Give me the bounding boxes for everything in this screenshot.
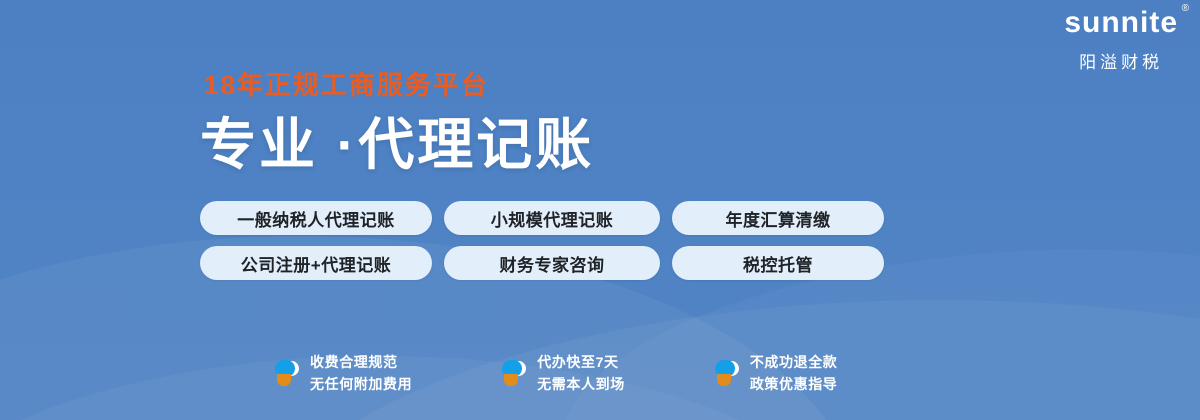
feature-line1: 不成功退全款 xyxy=(750,354,838,370)
promo-banner: sunnite ® 阳溢财税 18年正规工商服务平台 专业 ·代理记账 一般纳税… xyxy=(0,0,1200,420)
feature-text-guarantee: 不成功退全款 政策优惠指导 xyxy=(750,352,838,395)
service-pill-expert-consulting[interactable]: 财务专家咨询 xyxy=(444,246,660,280)
feature-item-pricing: 收费合理规范 无任何附加费用 xyxy=(275,352,412,395)
page-title: 专业 ·代理记账 xyxy=(200,114,594,177)
service-pill-annual-settlement[interactable]: 年度汇算清缴 xyxy=(672,201,884,235)
feature-text-pricing: 收费合理规范 无任何附加费用 xyxy=(310,352,412,395)
logo-wordmark-text: sunnite xyxy=(1064,6,1178,39)
service-pill-company-registration[interactable]: 公司注册+代理记账 xyxy=(200,246,432,280)
tagline: 18年正规工商服务平台 xyxy=(204,72,594,98)
feature-line2: 政策优惠指导 xyxy=(750,376,838,392)
circle-badge-icon xyxy=(275,359,301,389)
feature-text-speed: 代办快至7天 无需本人到场 xyxy=(537,352,625,395)
feature-line1: 代办快至7天 xyxy=(537,354,618,370)
service-pill-grid: 一般纳税人代理记账 小规模代理记账 年度汇算清缴 公司注册+代理记账 财务专家咨… xyxy=(200,201,884,280)
feature-line2: 无任何附加费用 xyxy=(310,376,412,392)
service-pill-general-taxpayer[interactable]: 一般纳税人代理记账 xyxy=(200,201,432,235)
circle-badge-icon xyxy=(715,359,741,389)
feature-item-speed: 代办快至7天 无需本人到场 xyxy=(502,352,625,395)
service-pill-tax-control-hosting[interactable]: 税控托管 xyxy=(672,246,884,280)
feature-line2: 无需本人到场 xyxy=(537,376,625,392)
logo-wordmark: sunnite ® xyxy=(1064,8,1178,38)
logo-chinese-name: 阳溢财税 xyxy=(1064,48,1178,73)
feature-item-guarantee: 不成功退全款 政策优惠指导 xyxy=(715,352,838,395)
brand-logo[interactable]: sunnite ® 阳溢财税 xyxy=(1064,8,1178,73)
service-pill-small-scale[interactable]: 小规模代理记账 xyxy=(444,201,660,235)
circle-badge-icon xyxy=(502,359,528,389)
registered-trademark-icon: ® xyxy=(1182,4,1190,14)
feature-strip: 收费合理规范 无任何附加费用 代办快至7天 无需本人到场 xyxy=(275,352,837,395)
feature-line1: 收费合理规范 xyxy=(310,354,398,370)
headline-block: 18年正规工商服务平台 专业 ·代理记账 xyxy=(200,72,594,177)
